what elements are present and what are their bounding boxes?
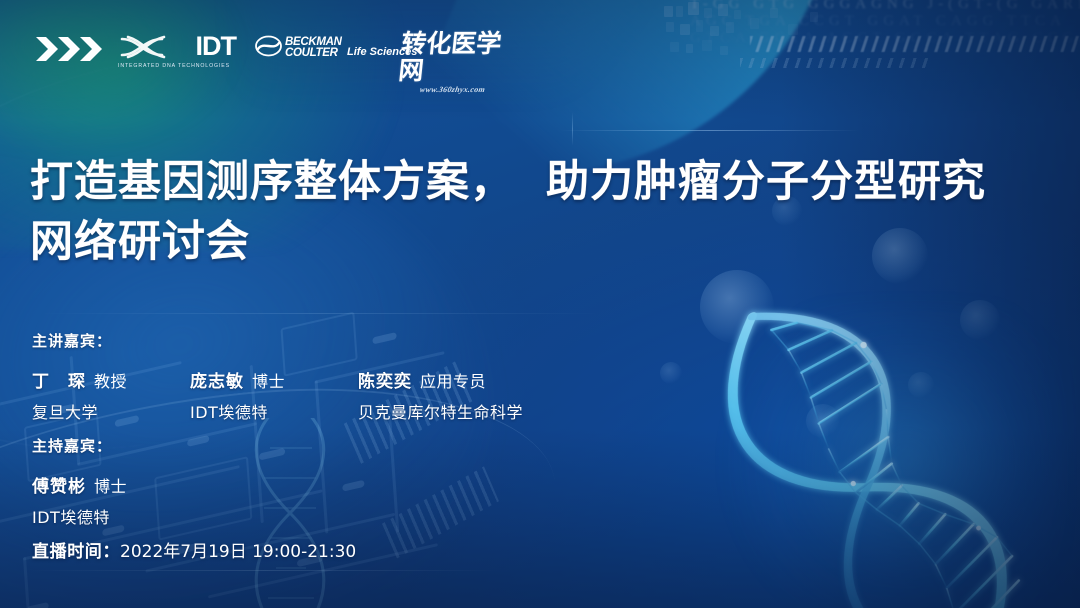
triple-chevron-right-icon — [36, 36, 104, 62]
speaker-name: 庞志敏 — [190, 372, 244, 392]
speaker-name: 陈奕奕 — [358, 372, 412, 392]
speaker-heading: 陈奕奕应用专员 — [358, 367, 523, 392]
page-title: 打造基因测序整体方案， 助力肿瘤分子分型研究 网络研讨会 — [30, 152, 1060, 272]
bokeh-dot-6 — [660, 362, 682, 384]
webinar-poster: T-GG GTG GGGAGNG J-(GT-(G GARNG AGC TGA … — [0, 0, 1080, 608]
accent-line-speakers — [40, 313, 600, 314]
beckman-coulter-wordmark: BECKMAN COULTER — [285, 37, 342, 59]
speakers-label: 主讲嘉宾： — [32, 330, 652, 351]
hosts-section: 主持嘉宾： 傅赞彬博士 IDT埃德特 — [32, 435, 190, 528]
speaker-name: 丁 琛 — [32, 372, 86, 392]
beckman-line-2: COULTER — [285, 48, 342, 59]
hosts-row: 傅赞彬博士 IDT埃德特 — [32, 472, 190, 528]
logo-header-bar: IDT INTEGRATED DNA TECHNOLOGIES BECKMAN … — [0, 0, 1080, 96]
host-name: 傅赞彬 — [32, 477, 86, 497]
zhyx-chinese-wordmark: 转化医学网 — [397, 30, 527, 84]
zhyx-url: www.360zhyx.com — [419, 85, 525, 94]
speakers-row: 丁 琛教授 复旦大学 庞志敏博士 IDT埃德特 陈奕奕应用专员 贝克曼库尔特生命… — [32, 367, 652, 423]
speaker-org: 贝克曼库尔特生命科学 — [358, 399, 523, 423]
idt-logo: IDT INTEGRATED DNA TECHNOLOGIES — [118, 33, 236, 69]
speakers-section: 主讲嘉宾： 丁 琛教授 复旦大学 庞志敏博士 IDT埃德特 陈奕奕应用专员 贝克… — [32, 330, 652, 423]
zhuanhua-yixue-wang-logo: 转化医学网 www.360zhyx.com — [400, 30, 524, 72]
speaker-org: IDT埃德特 — [190, 399, 358, 423]
host-heading: 傅赞彬博士 — [32, 472, 190, 497]
speaker-heading: 庞志敏博士 — [190, 367, 358, 392]
speaker-card: 庞志敏博士 IDT埃德特 — [190, 367, 358, 423]
speaker-org: 复旦大学 — [32, 399, 190, 423]
hosts-label: 主持嘉宾： — [32, 435, 190, 456]
speaker-card: 丁 琛教授 复旦大学 — [32, 367, 190, 423]
title-line-1: 打造基因测序整体方案， 助力肿瘤分子分型研究 — [30, 152, 1060, 212]
idt-wordmark: IDT — [196, 33, 237, 60]
live-time: 直播时间：2022年7月19日 19:00-21:30 — [32, 537, 356, 562]
host-title: 博士 — [94, 477, 127, 496]
speaker-card: 陈奕奕应用专员 贝克曼库尔特生命科学 — [358, 367, 523, 423]
speaker-heading: 丁 琛教授 — [32, 367, 190, 392]
live-time-label: 直播时间： — [32, 542, 120, 562]
beckman-ellipse-icon — [255, 35, 282, 57]
live-time-value: 2022年7月19日 19:00-21:30 — [120, 542, 356, 562]
speaker-title: 教授 — [94, 372, 127, 391]
speaker-title: 博士 — [252, 372, 285, 391]
title-line-2: 网络研讨会 — [30, 212, 1060, 272]
speaker-title: 应用专员 — [420, 372, 486, 391]
idt-tagline: INTEGRATED DNA TECHNOLOGIES — [118, 63, 230, 69]
dna-double-helix-x-icon — [122, 37, 164, 57]
host-card: 傅赞彬博士 IDT埃德特 — [32, 472, 190, 528]
host-org: IDT埃德特 — [32, 504, 190, 528]
